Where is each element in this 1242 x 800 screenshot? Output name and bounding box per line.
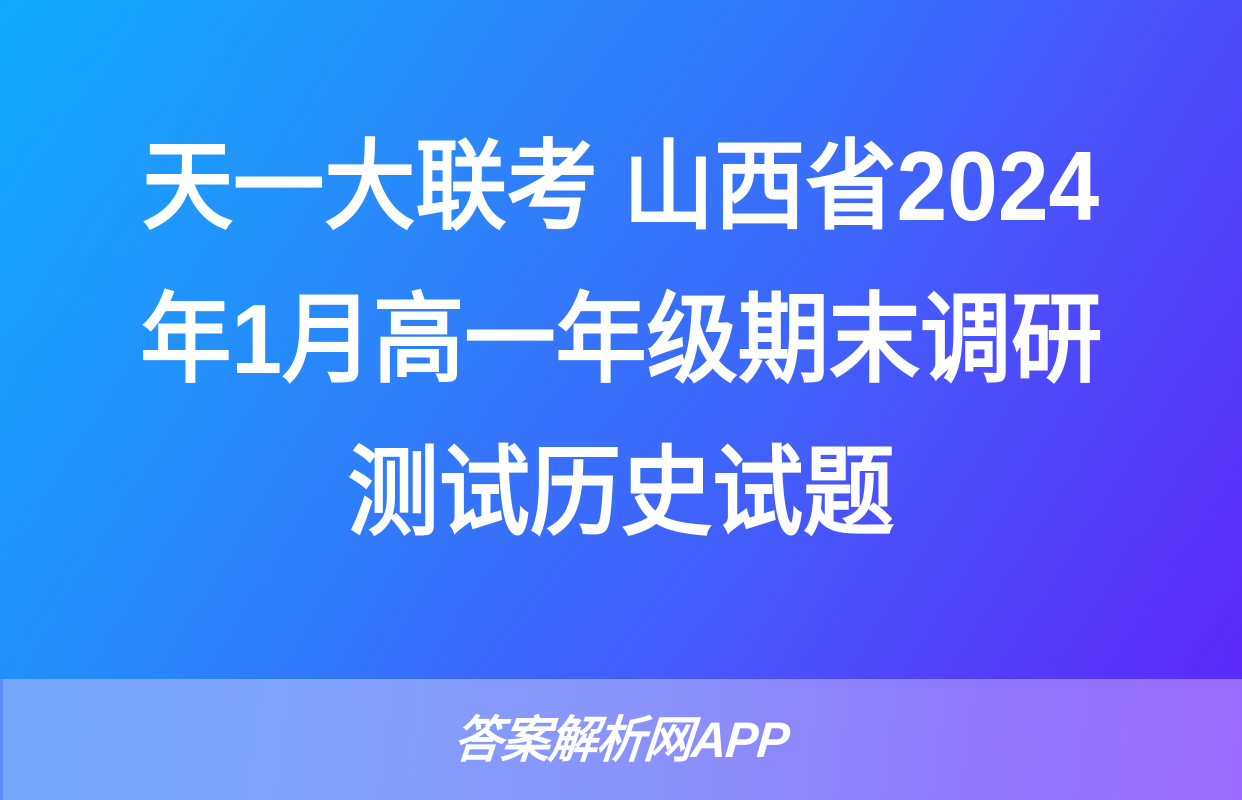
title-line-1: 天一大联考 山西省2024 — [142, 110, 1099, 263]
title-line-3: 测试历史试题 — [348, 416, 895, 569]
watermark-band: 答案解析网APP — [0, 679, 1242, 800]
page-title: 天一大联考 山西省2024 年1月高一年级期末调研 测试历史试题 — [0, 0, 1242, 679]
band-left-edge-accent — [0, 679, 3, 800]
exam-paper-cover-poster: 天一大联考 山西省2024 年1月高一年级期末调研 测试历史试题 答案解析网AP… — [0, 0, 1242, 800]
title-line-2: 年1月高一年级期末调研 — [140, 263, 1102, 416]
app-watermark-label: 答案解析网APP — [452, 715, 791, 765]
hero-gradient-background: 天一大联考 山西省2024 年1月高一年级期末调研 测试历史试题 — [0, 0, 1242, 679]
